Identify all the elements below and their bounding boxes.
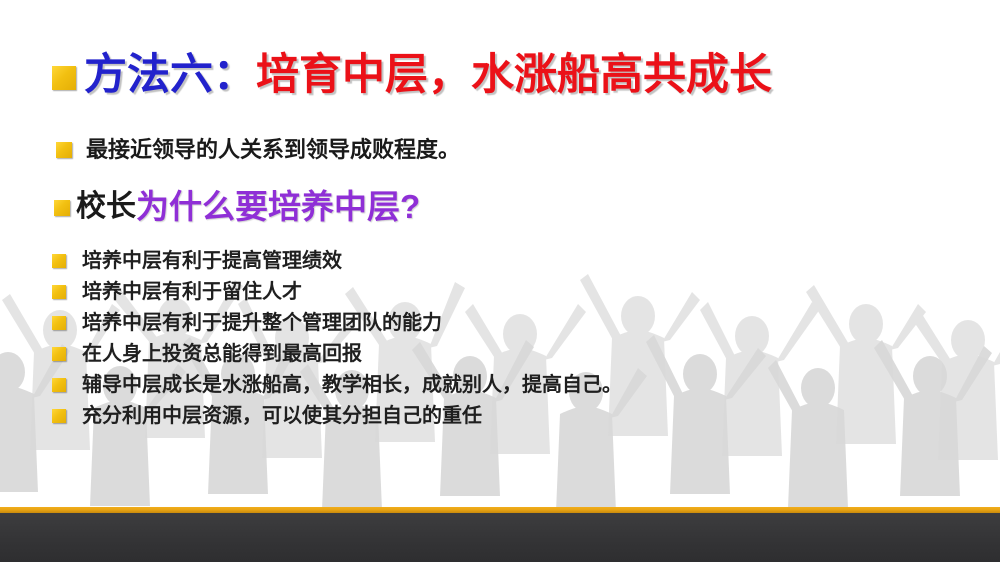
slide-title: 方法六： 培育中层，水涨船高共成长	[52, 54, 772, 97]
square-bullet-icon	[52, 66, 76, 90]
list-item-label: 在人身上投资总能得到最高回报	[82, 344, 362, 364]
list-item-label: 培养中层有利于留住人才	[82, 282, 302, 302]
question-prefix: 校长	[76, 192, 136, 222]
square-bullet-icon	[52, 316, 66, 330]
list-item: 辅导中层成长是水涨船高，教学相长，成就别人，提高自己。	[52, 369, 952, 400]
square-bullet-icon	[56, 142, 72, 158]
list-item: 充分利用中层资源，可以使其分担自己的重任	[52, 400, 952, 431]
square-bullet-icon	[52, 347, 66, 361]
list-item: 在人身上投资总能得到最高回报	[52, 338, 952, 369]
list-item-label: 辅导中层成长是水涨船高，教学相长，成就别人，提高自己。	[82, 375, 622, 395]
footer-band	[0, 513, 1000, 562]
square-bullet-icon	[54, 200, 70, 216]
slide-content: 方法六： 培育中层，水涨船高共成长 最接近领导的人关系到领导成败程度。 校长 为…	[0, 0, 1000, 520]
question-highlight: 为什么要培养中层?	[136, 190, 420, 223]
square-bullet-icon	[52, 285, 66, 299]
list-item: 培养中层有利于提升整个管理团队的能力	[52, 307, 952, 338]
list-item: 培养中层有利于留住人才	[52, 276, 952, 307]
title-part-method: 方法六：	[84, 54, 256, 97]
square-bullet-icon	[52, 378, 66, 392]
list-item-label: 培养中层有利于提升整个管理团队的能力	[82, 313, 442, 333]
square-bullet-icon	[52, 409, 66, 423]
square-bullet-icon	[52, 254, 66, 268]
sub-bullet-list: 培养中层有利于提高管理绩效 培养中层有利于留住人才 培养中层有利于提升整个管理团…	[52, 245, 952, 431]
presentation-slide: 方法六： 培育中层，水涨船高共成长 最接近领导的人关系到领导成败程度。 校长 为…	[0, 0, 1000, 562]
question-heading: 校长 为什么要培养中层?	[54, 190, 420, 223]
list-item-label: 培养中层有利于提高管理绩效	[82, 251, 342, 271]
statement-bullet: 最接近领导的人关系到领导成败程度。	[56, 139, 460, 161]
statement-text: 最接近领导的人关系到领导成败程度。	[86, 139, 460, 161]
list-item: 培养中层有利于提高管理绩效	[52, 245, 952, 276]
title-part-topic: 培育中层，水涨船高共成长	[256, 54, 772, 97]
list-item-label: 充分利用中层资源，可以使其分担自己的重任	[82, 406, 482, 426]
